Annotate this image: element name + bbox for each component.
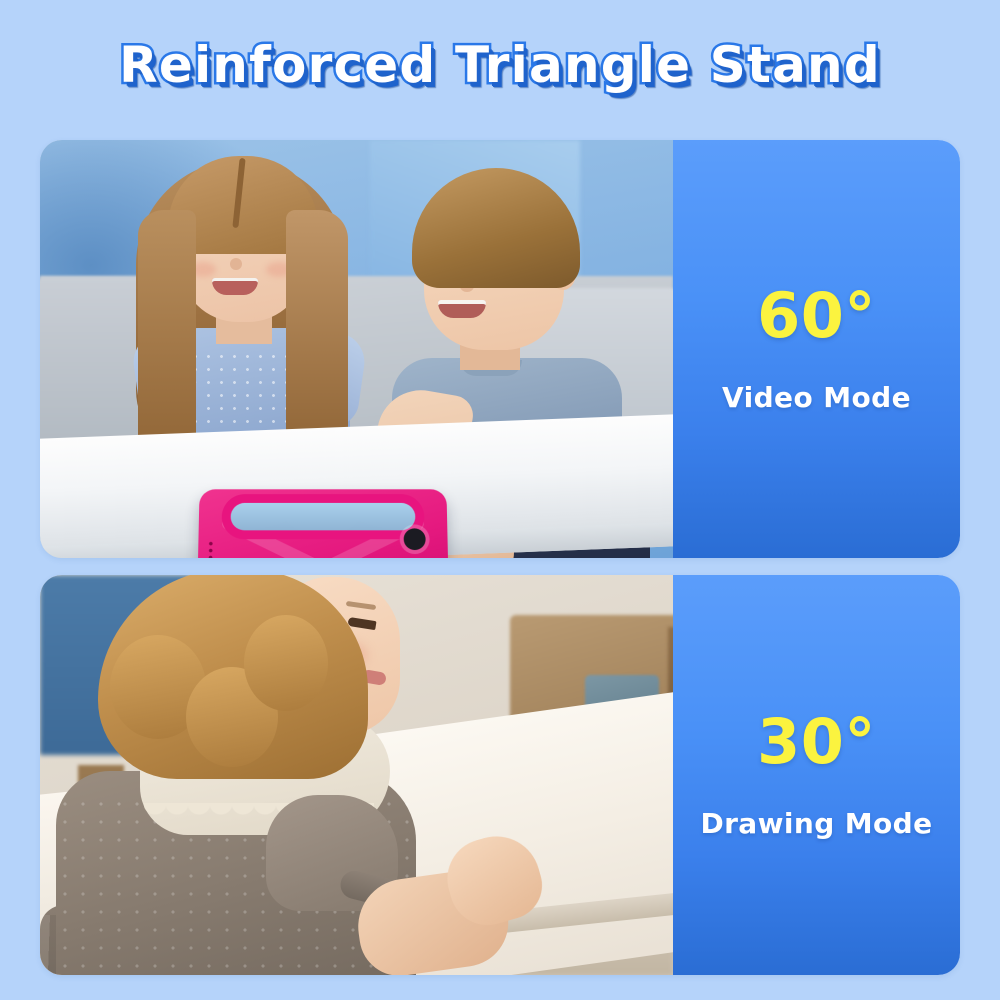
- feature-card-video-mode: 60° Video Mode: [40, 140, 960, 558]
- speaker-vents-left: [208, 540, 214, 558]
- angle-value: 60°: [757, 285, 876, 347]
- girl-hair-right: [286, 210, 348, 460]
- girl-hair-left: [138, 210, 196, 470]
- camera-cutout-icon: [404, 528, 426, 550]
- mode-label: Drawing Mode: [700, 807, 932, 840]
- feature-card-drawing-mode: 30° Drawing Mode: [40, 575, 960, 975]
- angle-value: 30°: [757, 711, 876, 773]
- product-photo-drawing-mode: [40, 575, 673, 975]
- girl-smile: [212, 278, 258, 295]
- info-panel-video-mode: 60° Video Mode: [673, 140, 960, 558]
- page-title: Reinforced Triangle Stand: [119, 36, 881, 94]
- product-photo-video-mode: [40, 140, 673, 558]
- header-bar: Reinforced Triangle Stand: [0, 0, 1000, 130]
- boy-smile: [438, 300, 486, 318]
- mode-label: Video Mode: [722, 381, 911, 414]
- info-panel-drawing-mode: 30° Drawing Mode: [673, 575, 960, 975]
- case-carry-handle: [230, 503, 415, 530]
- tablet-case-back-view: [196, 489, 449, 558]
- girl-nose: [230, 258, 242, 270]
- girl2-hair-curl-3: [244, 615, 328, 711]
